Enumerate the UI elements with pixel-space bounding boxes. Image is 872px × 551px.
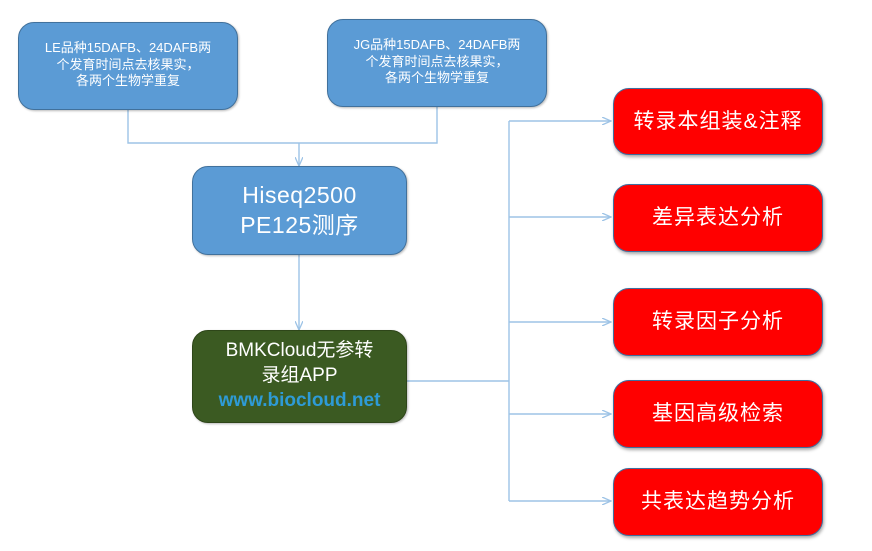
output-differential-expression-box[interactable]: 差异表达分析 [613, 184, 823, 252]
sequencing-line-1: Hiseq2500 [242, 181, 356, 211]
output-transcription-factor-box[interactable]: 转录因子分析 [613, 288, 823, 356]
sample-jg-line-2: 个发育时间点去核果实， [365, 54, 508, 71]
output-1-label: 转录本组装&注释 [633, 108, 802, 135]
platform-url-link[interactable]: www.biocloud.net [219, 389, 381, 414]
output-assembly-annotation-box[interactable]: 转录本组装&注释 [613, 88, 823, 155]
sample-group-le-box[interactable]: LE品种15DAFB、24DAFB两 个发育时间点去核果实， 各两个生物学重复 [18, 22, 238, 110]
platform-line-2: 录组APP [261, 364, 337, 389]
output-4-label: 基因高级检索 [652, 400, 784, 427]
flowchart-canvas: LE品种15DAFB、24DAFB两 个发育时间点去核果实， 各两个生物学重复 … [0, 0, 872, 551]
output-coexpression-trend-box[interactable]: 共表达趋势分析 [613, 468, 823, 536]
sequencing-line-2: PE125测序 [240, 211, 359, 241]
output-5-label: 共表达趋势分析 [641, 488, 795, 515]
analysis-platform-box[interactable]: BMKCloud无参转 录组APP www.biocloud.net [192, 330, 407, 423]
connector-jg-to-sequencing [299, 107, 437, 143]
platform-line-1: BMKCloud无参转 [226, 339, 374, 364]
output-2-label: 差异表达分析 [652, 204, 784, 231]
connector-le-to-sequencing [128, 110, 299, 143]
sample-le-line-3: 各两个生物学重复 [76, 73, 180, 90]
sequencing-platform-box[interactable]: Hiseq2500 PE125测序 [192, 166, 407, 255]
sample-le-line-2: 个发育时间点去核果实， [56, 57, 199, 74]
sample-group-jg-box[interactable]: JG品种15DAFB、24DAFB两 个发育时间点去核果实， 各两个生物学重复 [327, 19, 547, 107]
sample-le-line-1: LE品种15DAFB、24DAFB两 [45, 40, 211, 57]
sample-jg-line-1: JG品种15DAFB、24DAFB两 [354, 37, 521, 54]
sample-jg-line-3: 各两个生物学重复 [385, 70, 489, 87]
output-gene-advanced-search-box[interactable]: 基因高级检索 [613, 380, 823, 448]
output-3-label: 转录因子分析 [652, 308, 784, 335]
